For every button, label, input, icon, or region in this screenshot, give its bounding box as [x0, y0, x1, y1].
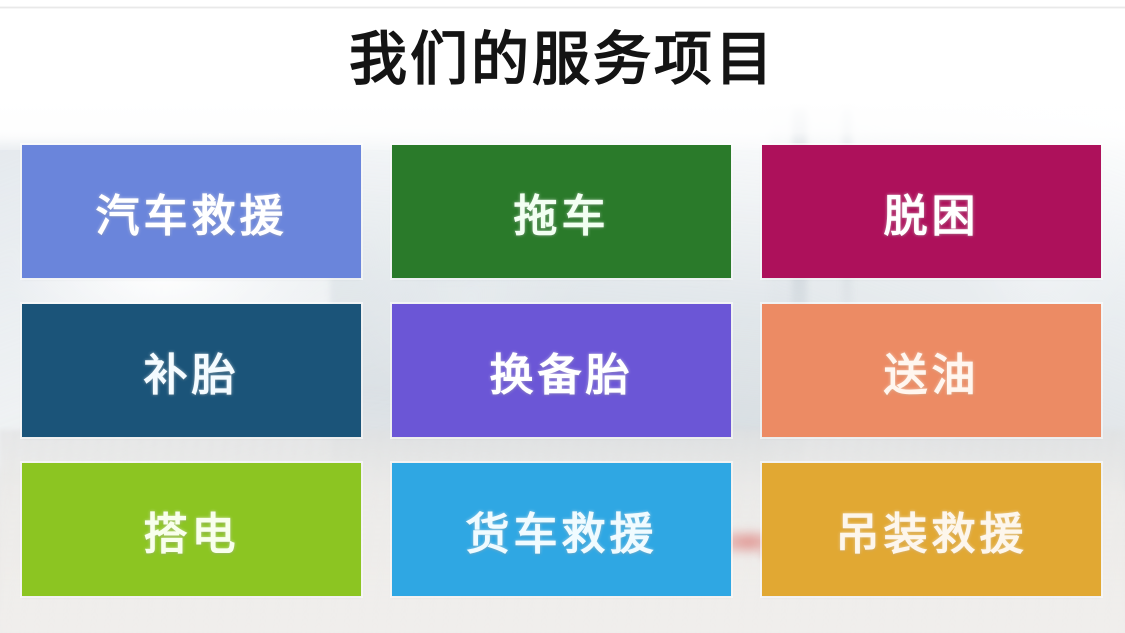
service-tile-label: 吊装救援: [836, 498, 1028, 562]
service-tile-car-rescue[interactable]: 汽车救援: [22, 145, 361, 278]
service-tile-label: 货车救援: [466, 498, 658, 562]
top-divider-line: [0, 6, 1125, 9]
service-tile-tire-repair[interactable]: 补胎: [22, 304, 361, 437]
service-tile-label: 搭电: [144, 498, 240, 562]
service-tile-grid: 汽车救援 拖车 脱困 补胎 换备胎 送油 搭电 货车救援 吊装救援: [22, 145, 1100, 597]
service-tile-label: 汽车救援: [96, 180, 288, 244]
service-tile-extrication[interactable]: 脱困: [762, 145, 1101, 278]
service-tile-spare-tire-change[interactable]: 换备胎: [392, 304, 731, 437]
service-tile-label: 拖车: [514, 180, 610, 244]
service-tile-truck-rescue[interactable]: 货车救援: [392, 463, 731, 596]
service-tile-label: 送油: [884, 339, 980, 403]
service-tile-label: 补胎: [144, 339, 240, 403]
service-poster: 我们的服务项目 汽车救援 拖车 脱困 补胎 换备胎 送油 搭电 货车救援 吊装救…: [0, 0, 1125, 633]
service-tile-fuel-delivery[interactable]: 送油: [762, 304, 1101, 437]
page-title: 我们的服务项目: [0, 22, 1125, 98]
service-tile-towing[interactable]: 拖车: [392, 145, 731, 278]
service-tile-jump-start[interactable]: 搭电: [22, 463, 361, 596]
service-tile-label: 换备胎: [490, 339, 634, 403]
service-tile-label: 脱困: [884, 180, 980, 244]
service-tile-crane-rescue[interactable]: 吊装救援: [762, 463, 1101, 596]
